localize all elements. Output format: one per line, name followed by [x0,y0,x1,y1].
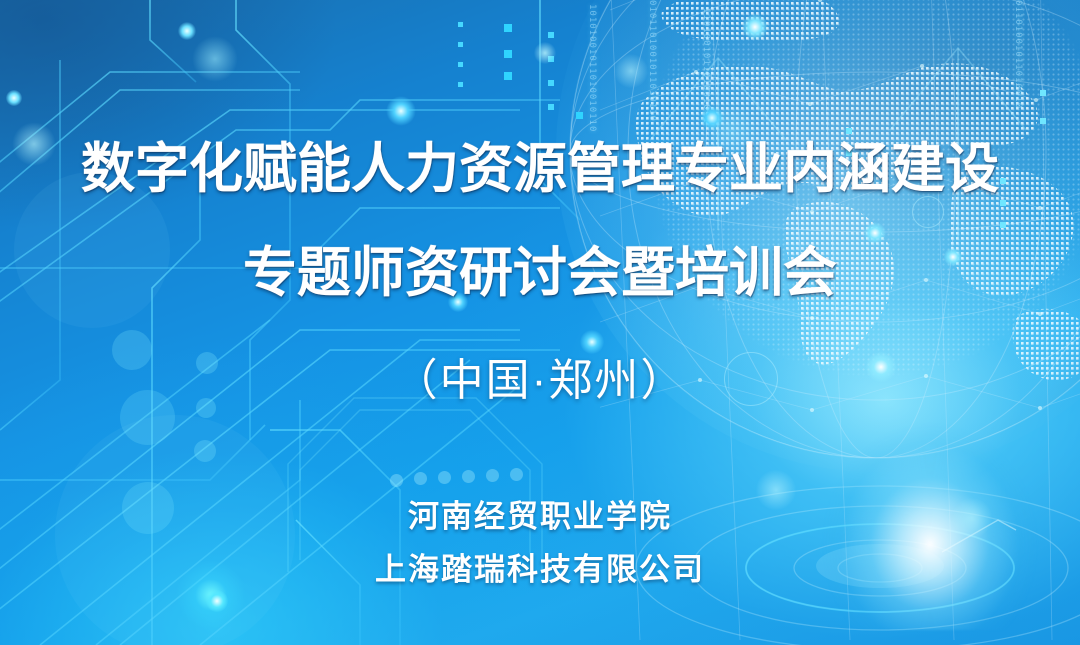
conference-poster: 10101001011010010110 0101101001011010110… [0,0,1080,645]
organizer-1: 河南经贸职业学院 [0,491,1080,536]
poster-text: 数字化赋能人力资源管理专业内涵建设 专题师资研讨会暨培训会 （中国·郑州） 河南… [0,0,1080,645]
organizer-2: 上海踏瑞科技有限公司 [0,544,1080,589]
title-line-2: 专题师资研讨会暨培训会 [0,228,1080,307]
location-label: （中国·郑州） [0,344,1080,408]
title-line-1: 数字化赋能人力资源管理专业内涵建设 [0,124,1080,203]
